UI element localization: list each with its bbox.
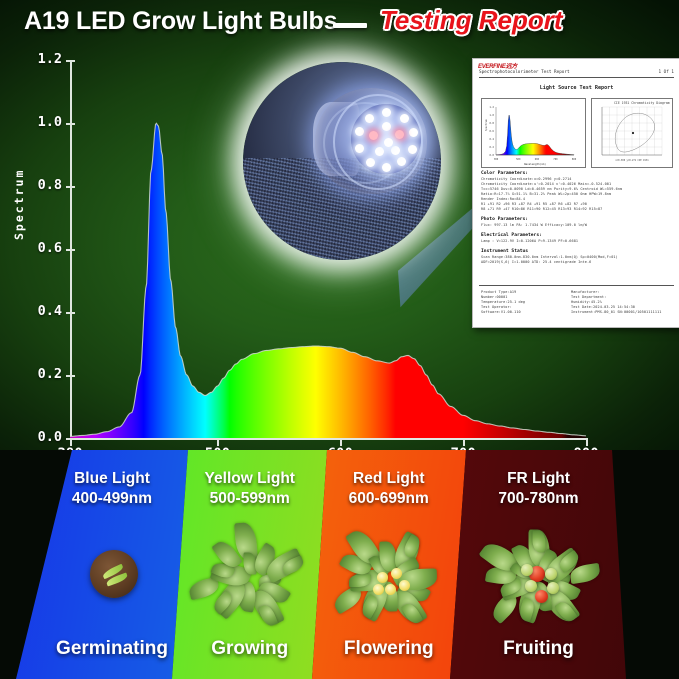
cie-diagram-title: CIE 1931 Chromaticity Diagram <box>614 101 670 105</box>
test-report-document: EVERFINE远方 Spectrophotocolorimeter Test … <box>472 58 679 328</box>
led-diode <box>355 127 364 136</box>
plant-flower <box>385 584 396 595</box>
flowering-plant-icon <box>327 528 451 632</box>
plant-flower <box>391 568 402 579</box>
report-chart-ytick: 1.2 <box>489 105 494 109</box>
infographic-root: A19 LED Grow Light Bulbs Testing Report … <box>0 0 679 679</box>
report-chart-xlabel: Wavelength(nm) <box>524 162 546 166</box>
report-chart-xtick: 800 <box>572 158 577 161</box>
led-bulb-magnifier <box>243 62 441 260</box>
report-chart-ytick: 0.4 <box>489 137 494 141</box>
report-title: Light Source Test Report <box>473 85 679 91</box>
magnifier-background <box>243 62 441 260</box>
plant-flower <box>399 580 410 591</box>
report-parameter-line: Flux: 997.13 lm PA: 1.7434 W Efficacy:10… <box>481 223 587 227</box>
report-header: Spectrophotocolorimeter Test Report 1 Of… <box>479 70 674 78</box>
led-bulb <box>315 88 427 194</box>
led-diode <box>391 146 400 155</box>
led-diode <box>355 144 364 153</box>
report-section-heading: Instrument Status <box>481 249 528 254</box>
y-tick-label: 0.4 <box>20 303 62 319</box>
led-diode <box>382 122 391 131</box>
led-diode <box>400 114 409 123</box>
report-section-heading: Electrical Parameters: <box>481 233 542 238</box>
seedling-sprout-icon <box>50 528 174 632</box>
led-diode <box>408 145 417 154</box>
report-footer-left-line: Product Type:A19 <box>481 290 516 294</box>
report-parameter-line: Scan Range:380.0nm-830.0nm Interval:1.0n… <box>481 255 618 259</box>
report-footer: Product Type:A19Number:00001Temperature:… <box>479 285 674 286</box>
stage-label-fruiting: Fruiting <box>449 638 629 660</box>
report-footer-right-line: Instrument:PMS-80_01 SN:00001/1050111111… <box>571 310 662 314</box>
report-spectrum-chart: 0.00.20.40.60.81.01.2380500600700800Wave… <box>481 98 586 168</box>
y-tick-label: 0.0 <box>20 429 62 445</box>
x-tick-mark <box>586 438 588 446</box>
report-chart-ytick: 1.0 <box>489 113 494 117</box>
report-footer-left-line: Test Operator: <box>481 305 512 309</box>
x-tick-mark <box>217 438 219 446</box>
y-tick-label: 1.2 <box>20 51 62 67</box>
led-diode <box>384 138 393 147</box>
report-footer-right-line: Test Department: <box>571 295 606 299</box>
y-tick-label: 0.8 <box>20 177 62 193</box>
x-tick-mark <box>70 438 72 446</box>
report-chart-ytick: 0.8 <box>489 121 494 125</box>
led-diode <box>366 158 375 167</box>
title-divider-dash <box>333 23 367 28</box>
led-diode <box>409 128 418 137</box>
report-chart-xtick: 380 <box>494 158 499 161</box>
cie-spectral-locus <box>615 113 655 152</box>
report-footer-left-line: Temperature:25.1 deg <box>481 300 525 304</box>
x-tick-mark <box>463 438 465 446</box>
report-section-heading: Photo Parameters: <box>481 217 528 222</box>
report-section-heading: Color Parameters: <box>481 171 528 176</box>
cie-measured-point <box>632 132 634 134</box>
report-parameter-line: ADF=2019(S,6) I=1.0000 ATD: 25.4 centigr… <box>481 260 591 264</box>
ripe-tomato <box>535 590 548 603</box>
report-footer-left-line: Software:V1.00.110 <box>481 310 521 314</box>
report-chart-ytick: 0.0 <box>489 153 494 157</box>
y-tick-label: 1.0 <box>20 114 62 130</box>
unripe-tomato <box>547 582 559 594</box>
report-footer-right-line: Manufacturer: <box>571 290 600 294</box>
report-footer-right-line: Humidity:45.2% <box>571 300 602 304</box>
report-parameter-line: Tcc=5746 Duv=0.0090 Ld=0.4659 nm Purity=… <box>481 187 622 191</box>
page-title: A19 LED Grow Light Bulbs <box>24 7 337 36</box>
report-chart-ytick: 0.6 <box>489 129 494 133</box>
y-tick-label: 0.6 <box>20 240 62 256</box>
plant-leaf <box>554 598 577 623</box>
y-tick-mark <box>66 60 75 62</box>
fruiting-tomato-plant-icon <box>477 528 601 632</box>
report-chart-ytick: 0.2 <box>489 145 494 149</box>
led-diode <box>395 130 404 139</box>
plant-flower <box>377 572 388 583</box>
report-parameter-line: R1 +91 R2 +96 R3 +87 R4 +91 R5 +87 R6 +8… <box>481 202 587 206</box>
led-diode <box>365 114 374 123</box>
y-tick-mark <box>66 375 75 377</box>
band-range-label: 700-780nm <box>449 490 629 508</box>
led-diode <box>369 131 378 140</box>
title-accent-text: Testing Report <box>380 5 562 36</box>
y-tick-mark <box>66 312 75 314</box>
report-spectrum-area <box>496 115 574 155</box>
plant-leaf <box>349 574 371 587</box>
band-name-label: FR Light <box>449 470 629 488</box>
report-parameter-line: Ratio:R=17.7% G=51.1% B=31.2% Peak WL=2p… <box>481 192 611 196</box>
report-parameter-line: Chromaticity Coordinate:x=0.2996 y=0.271… <box>481 177 572 181</box>
y-tick-mark <box>66 123 75 125</box>
report-chart-ylabel: Spectrum <box>485 119 488 131</box>
everfine-logo: EVERFINE远方 <box>478 61 517 70</box>
report-header-right: 1 Of 1 <box>658 70 674 75</box>
report-header-left: Spectrophotocolorimeter Test Report <box>479 70 570 75</box>
unripe-tomato <box>545 568 557 580</box>
report-parameter-line: Chromaticity Coordinate:u'=0.2014 v'=0.4… <box>481 182 611 186</box>
report-parameter-line: Render Index:Ra=84.4 <box>481 197 525 201</box>
report-parameter-line: R8 +71 R9 +47 R10=86 R11=90 R12=45 R13=9… <box>481 207 602 211</box>
x-tick-mark <box>340 438 342 446</box>
report-chart-xtick: 500 <box>516 158 521 161</box>
y-tick-mark <box>66 249 75 251</box>
report-cie-diagram: x=0.300 y=0.271 CIE 1931 CIE 1931 Chroma… <box>591 98 673 168</box>
led-diode <box>397 157 406 166</box>
led-diode <box>382 108 391 117</box>
led-array-face <box>351 104 421 174</box>
title-bar: A19 LED Grow Light Bulbs Testing Report <box>0 0 679 50</box>
y-tick-label: 0.2 <box>20 366 62 382</box>
plant-flower <box>373 584 384 595</box>
report-chart-xtick: 600 <box>535 158 540 161</box>
cie-caption: x=0.300 y=0.271 CIE 1931 <box>615 159 649 162</box>
growth-stage-bands: Blue Light400-499nmGerminatingYellow Lig… <box>0 450 679 679</box>
led-diode <box>375 147 384 156</box>
report-chart-xtick: 700 <box>553 158 558 161</box>
led-diode <box>382 163 391 172</box>
leafy-plant-icon <box>188 528 312 632</box>
report-footer-left-line: Number:00001 <box>481 295 508 299</box>
report-parameter-line: Lamp : V=122.9V I=0.1206A P=9.1349 PF=0.… <box>481 239 578 243</box>
unripe-tomato <box>521 564 533 576</box>
y-tick-mark <box>66 186 75 188</box>
report-footer-right-line: Test Date:2024-03-25 14:54:30 <box>571 305 635 309</box>
unripe-tomato <box>525 580 537 592</box>
